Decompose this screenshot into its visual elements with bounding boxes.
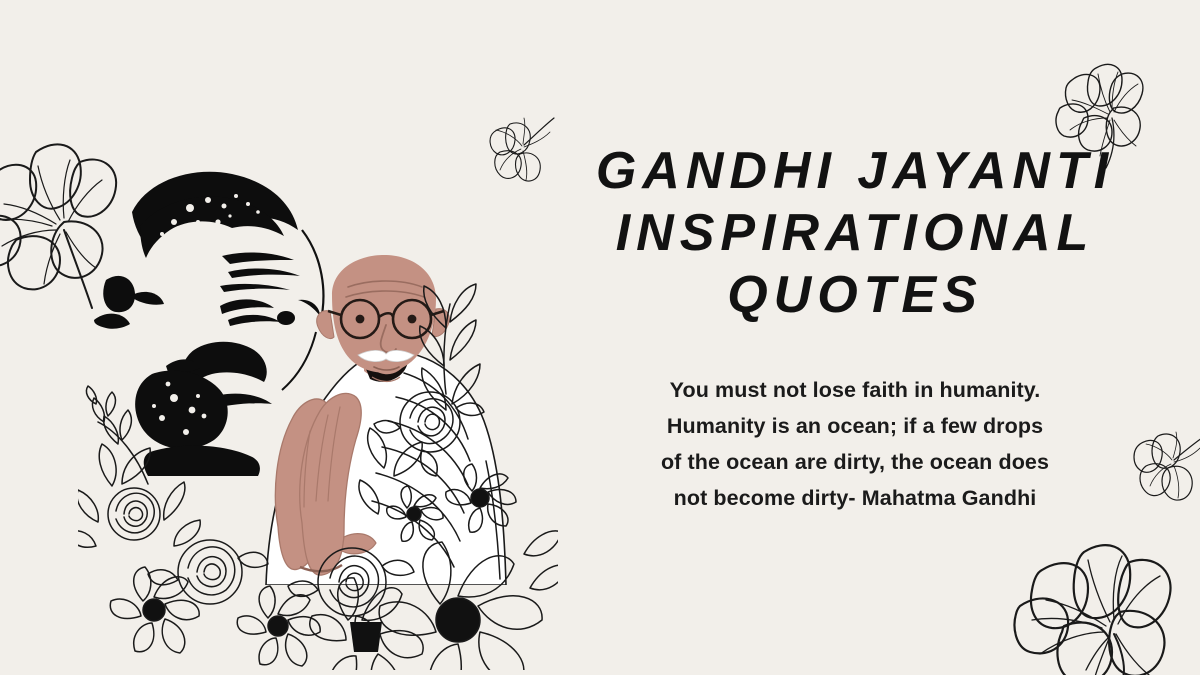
poster-canvas: GANDHI JAYANTI INSPIRATIONAL QUOTES You …: [0, 0, 1200, 675]
page-title: GANDHI JAYANTI INSPIRATIONAL QUOTES: [565, 140, 1145, 326]
quote-text: You must not lose faith in humanity. Hum…: [565, 372, 1145, 516]
text-block: GANDHI JAYANTI INSPIRATIONAL QUOTES You …: [565, 140, 1145, 516]
sprig-title-icon: [488, 112, 558, 182]
flower-bottom-right-icon: [1012, 530, 1192, 675]
floral-wreath: [78, 270, 558, 670]
